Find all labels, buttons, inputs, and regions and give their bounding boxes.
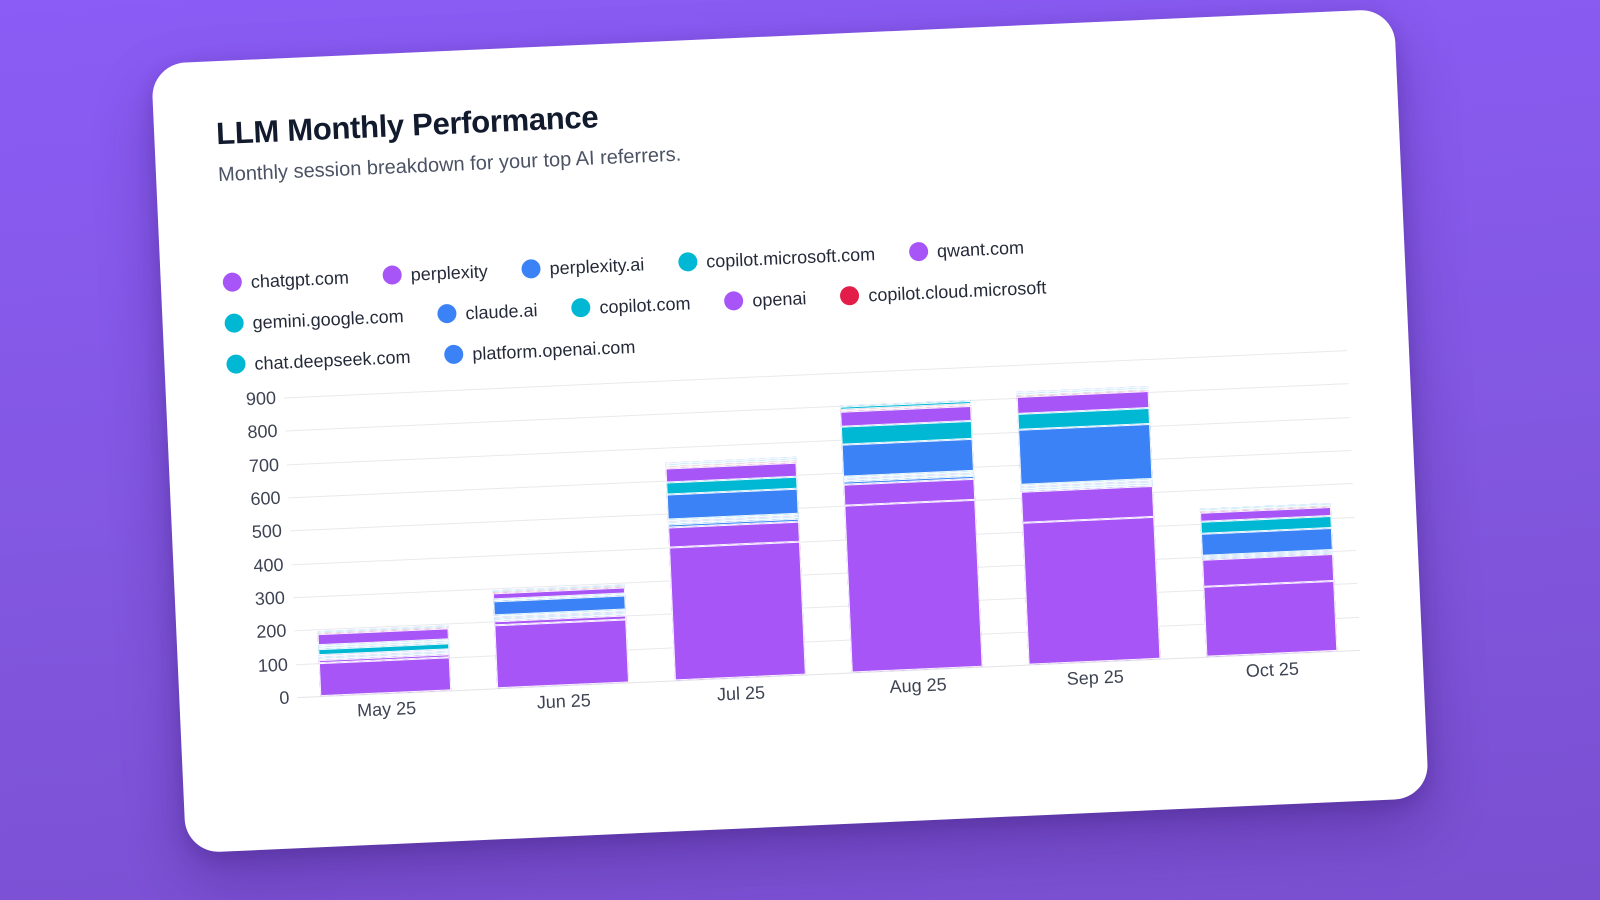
legend-color-dot-icon: [382, 265, 402, 285]
legend-item[interactable]: claude.ai: [437, 300, 538, 323]
legend-color-dot-icon: [840, 286, 860, 306]
y-axis-tick-label: 0: [279, 689, 290, 707]
legend-item[interactable]: qwant.com: [909, 238, 1025, 262]
legend-color-dot-icon: [224, 313, 244, 333]
stacked-bar[interactable]: [317, 625, 451, 696]
x-axis-tick-label: Aug 25: [829, 672, 1007, 701]
legend-item-label: chat.deepseek.com: [254, 347, 411, 372]
legend-color-dot-icon: [521, 259, 541, 279]
legend-item-label: copilot.cloud.microsoft: [868, 278, 1047, 304]
legend-color-dot-icon: [571, 298, 591, 318]
x-axis-tick-label: Oct 25: [1183, 656, 1361, 685]
legend-item-label: copilot.microsoft.com: [706, 245, 876, 271]
stacked-bar[interactable]: [1017, 386, 1160, 664]
y-axis-tick-label: 500: [252, 522, 283, 541]
legend-item[interactable]: copilot.microsoft.com: [678, 244, 876, 272]
y-axis: 0100200300400500600700800900: [228, 398, 289, 700]
bar-segment[interactable]: [1023, 517, 1160, 664]
bar-group: [284, 390, 474, 698]
bar-segment[interactable]: [319, 657, 452, 696]
y-axis-tick-label: 800: [247, 422, 278, 441]
legend-item-label: perplexity: [410, 262, 488, 283]
x-axis-tick-label: Sep 25: [1006, 664, 1184, 693]
chart-legend: chatgpt.comperplexityperplexity.aicopilo…: [222, 227, 1265, 374]
y-axis-tick-label: 200: [256, 622, 287, 641]
legend-item[interactable]: openai: [724, 288, 807, 311]
x-axis-tick-label: Jun 25: [475, 687, 653, 716]
legend-item[interactable]: perplexity: [382, 261, 488, 285]
bar-segment[interactable]: [1203, 581, 1337, 657]
legend-item-label: platform.openai.com: [472, 337, 636, 362]
bar-segment[interactable]: [1019, 424, 1153, 485]
y-axis-tick-label: 700: [249, 456, 280, 475]
legend-item[interactable]: chatgpt.com: [222, 268, 349, 293]
legend-item[interactable]: chat.deepseek.com: [226, 347, 411, 374]
legend-color-dot-icon: [444, 345, 464, 365]
y-axis-tick-label: 100: [257, 655, 288, 674]
x-axis-tick-label: May 25: [298, 695, 476, 724]
bar-group: [638, 374, 828, 682]
chart-bars: [284, 350, 1360, 697]
bar-segment[interactable]: [495, 619, 629, 688]
y-axis-tick-label: 400: [253, 555, 284, 574]
y-axis-tick-label: 900: [246, 389, 277, 408]
legend-item[interactable]: copilot.cloud.microsoft: [840, 278, 1047, 306]
x-axis-tick-label: Jul 25: [652, 680, 830, 709]
legend-color-dot-icon: [226, 354, 246, 374]
legend-item-label: claude.ai: [465, 301, 538, 322]
legend-item[interactable]: platform.openai.com: [444, 337, 636, 364]
legend-color-dot-icon: [222, 272, 242, 292]
legend-item-label: gemini.google.com: [252, 307, 404, 332]
bar-group: [1170, 350, 1360, 658]
bar-segment[interactable]: [844, 500, 983, 672]
legend-item-label: copilot.com: [599, 294, 691, 316]
legend-color-dot-icon: [437, 304, 457, 324]
legend-color-dot-icon: [724, 291, 744, 311]
bar-group: [815, 366, 1005, 674]
bar-segment[interactable]: [669, 541, 806, 680]
stacked-bar[interactable]: [1200, 503, 1338, 657]
legend-item-label: perplexity.ai: [549, 255, 644, 277]
bar-group: [461, 382, 651, 690]
legend-color-dot-icon: [909, 242, 929, 262]
legend-item[interactable]: perplexity.ai: [521, 254, 644, 278]
y-axis-tick-label: 300: [255, 589, 286, 608]
legend-item-label: qwant.com: [937, 238, 1025, 260]
legend-item-label: openai: [752, 289, 807, 309]
page-background: LLM Monthly Performance Monthly session …: [0, 0, 1600, 900]
chart-plot-area: 0100200300400500600700800900 May 25Jun 2…: [228, 350, 1362, 730]
stacked-bar[interactable]: [665, 457, 806, 680]
legend-item[interactable]: gemini.google.com: [224, 306, 404, 333]
legend-color-dot-icon: [678, 252, 698, 272]
stacked-bar[interactable]: [840, 399, 983, 672]
legend-item-label: chatgpt.com: [250, 268, 349, 290]
y-axis-tick-label: 600: [250, 489, 281, 508]
chart-card: LLM Monthly Performance Monthly session …: [151, 9, 1429, 854]
legend-item[interactable]: copilot.com: [571, 293, 691, 317]
stacked-bar[interactable]: [493, 585, 628, 689]
bar-group: [993, 358, 1183, 666]
